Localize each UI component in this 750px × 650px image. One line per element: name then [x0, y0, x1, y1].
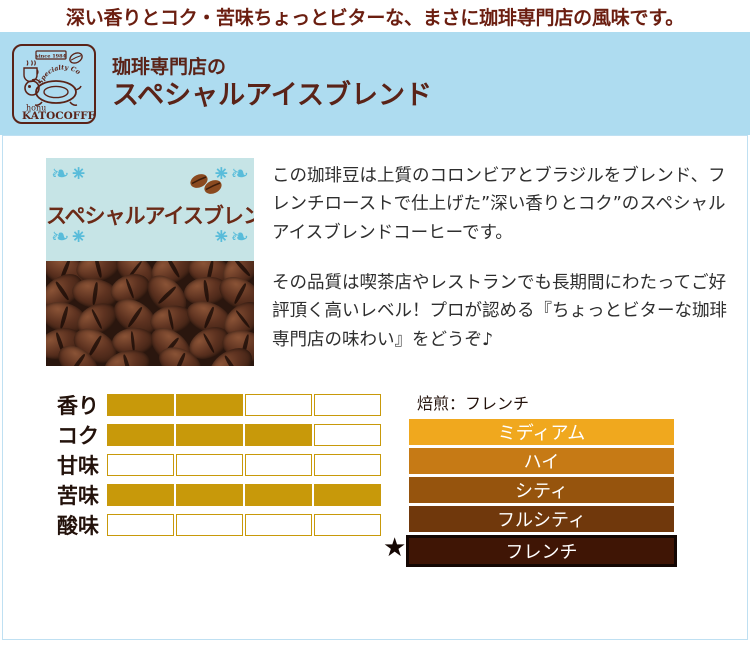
flavour-rating-chart: 香りコク甘味苦味酸味 [39, 390, 383, 540]
coffee-beans-icon [186, 170, 228, 198]
top-banner: 深い香りとコク・苦味ちょっとビターな、まさに珈琲専門店の風味です。 [0, 0, 750, 32]
flavour-cell-filled [176, 484, 243, 506]
header-subtitle: 珈琲専門店の [112, 57, 432, 78]
flavour-cells [107, 484, 383, 506]
page-header: since 1984 Specialty Coffee [0, 32, 750, 135]
roast-level: シティ [409, 477, 674, 503]
flavour-row: 酸味 [39, 510, 383, 540]
flavour-cell-empty [314, 394, 381, 416]
package-product-name: スペシャルアイスブレンド [46, 200, 254, 230]
flavour-cell-empty [245, 454, 312, 476]
flavour-cell-filled [245, 424, 312, 446]
flavour-label: 苦味 [39, 480, 107, 510]
svg-text:Specialty Coffee: Specialty Coffee [14, 46, 82, 86]
flavour-cell-empty [245, 394, 312, 416]
flavour-cell-empty [176, 454, 243, 476]
roast-caption: 焙煎：フレンチ [409, 390, 677, 414]
flavour-label: 酸味 [39, 510, 107, 540]
flavour-cell-filled [107, 484, 174, 506]
page-title: スペシャルアイスブレンド [112, 81, 432, 110]
roast-level: ハイ [409, 448, 674, 474]
flavour-cell-empty [107, 454, 174, 476]
kato-coffee-logo: since 1984 Specialty Coffee [12, 44, 96, 124]
flavour-cell-empty [314, 514, 381, 536]
svg-text:since 1984: since 1984 [36, 53, 67, 59]
flavour-cell-filled [176, 394, 243, 416]
roast-level: ミディアム [409, 419, 674, 445]
roast-level-label: ミディアム [498, 419, 585, 445]
roast-level-label: フレンチ [506, 538, 578, 564]
flavour-cell-empty [245, 514, 312, 536]
stats-section: 香りコク甘味苦味酸味 焙煎：フレンチ ミディアムハイシティフルシティ★フレンチ [3, 366, 747, 570]
product-description: この珈琲豆は上質のコロンビアとブラジルをブレンド、フレンチローストで仕上げた”深… [272, 158, 727, 366]
roast-level-list: ミディアムハイシティフルシティ★フレンチ [409, 419, 677, 567]
flavour-cell-filled [314, 484, 381, 506]
intro-section: ❧⁕ ⁕❧ ❧⁕ ⁕❧ スペシャルアイスブレンド [3, 136, 747, 366]
roast-level-label: シティ [515, 477, 568, 503]
roast-level-label: ハイ [524, 448, 560, 474]
roast-level-label: フルシティ [497, 506, 586, 532]
flavour-row: コク [39, 420, 383, 450]
flavour-cell-filled [245, 484, 312, 506]
description-paragraph-2: その品質は喫茶店やレストランでも長期間にわたってご好評頂く高いレベル！プロが認め… [272, 269, 727, 354]
roast-level: フルシティ [409, 506, 674, 532]
top-banner-text: 深い香りとコク・苦味ちょっとビターな、まさに珈琲専門店の風味です。 [66, 3, 684, 30]
flavour-cell-empty [176, 514, 243, 536]
roast-level-selected: ★フレンチ [406, 535, 677, 567]
flavour-label: コク [39, 420, 107, 450]
flavour-cells [107, 394, 383, 416]
content-panel: ❧⁕ ⁕❧ ❧⁕ ⁕❧ スペシャルアイスブレンド [2, 135, 748, 640]
product-package-image: ❧⁕ ⁕❧ ❧⁕ ⁕❧ スペシャルアイスブレンド [46, 158, 254, 366]
flavour-cell-empty [314, 424, 381, 446]
flavour-cell-empty [107, 514, 174, 536]
flavour-label: 香り [39, 390, 107, 420]
flavour-cell-filled [176, 424, 243, 446]
flourish-ornament-icon: ❧⁕ [51, 163, 88, 185]
header-titles: 珈琲専門店の スペシャルアイスブレンド [112, 57, 432, 110]
flavour-row: 甘味 [39, 450, 383, 480]
flavour-row: 香り [39, 390, 383, 420]
svg-text:KATOCOFFEE: KATOCOFFEE [22, 110, 94, 122]
flavour-cells [107, 454, 383, 476]
turtle-logo-icon: since 1984 Specialty Coffee [14, 46, 94, 122]
flavour-cell-filled [107, 394, 174, 416]
star-icon: ★ [383, 535, 406, 561]
flavour-cell-filled [107, 424, 174, 446]
coffee-beans-photo [46, 261, 254, 366]
flavour-cells [107, 424, 383, 446]
roast-level-chart: 焙煎：フレンチ ミディアムハイシティフルシティ★フレンチ [409, 390, 677, 570]
flavour-cell-empty [314, 454, 381, 476]
flavour-cells [107, 514, 383, 536]
description-paragraph-1: この珈琲豆は上質のコロンビアとブラジルをブレンド、フレンチローストで仕上げた”深… [272, 162, 727, 247]
flavour-label: 甘味 [39, 450, 107, 480]
flavour-row: 苦味 [39, 480, 383, 510]
